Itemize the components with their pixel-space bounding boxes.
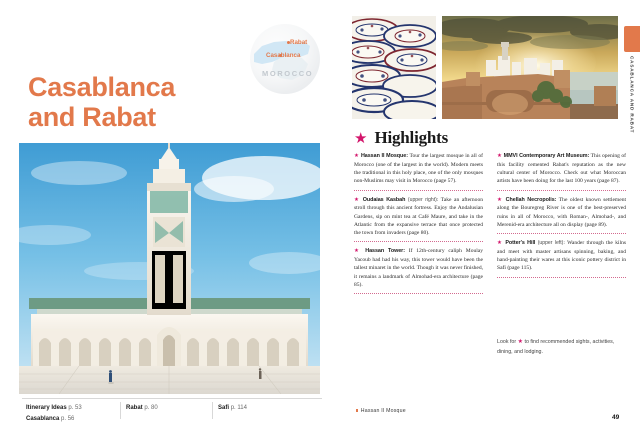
entry-divider <box>497 277 626 278</box>
nav-item-casablanca[interactable]: Casablanca p. 56 <box>26 414 82 425</box>
highlight-entry[interactable]: ★ Hassan II Mosque: Tour the largest mos… <box>354 152 483 186</box>
nav-item-label: Itinerary Ideas <box>26 405 67 411</box>
star-icon: ★ <box>518 339 523 345</box>
edge-label-text: CASABLANCA AND RABAT <box>630 56 635 133</box>
highlights-title: Highlights <box>374 128 448 148</box>
star-icon: ★ <box>354 248 361 254</box>
hero-caption-text: Hassan II Mosque <box>361 408 406 414</box>
nav-item-itinerary-ideas[interactable]: Itinerary Ideas p. 53 <box>26 403 82 414</box>
highlight-entry[interactable]: ★ Hassan Tower: If 12th-century caliph M… <box>354 247 483 289</box>
highlight-note: (upper left) <box>535 240 563 246</box>
nav-item-rabat[interactable]: Rabat p. 80 <box>126 403 158 414</box>
page-number: 49 <box>612 414 619 421</box>
entry-divider <box>497 233 626 234</box>
nav-item-safi[interactable]: Safi p. 114 <box>218 403 247 414</box>
nav-column-1: Itinerary Ideas p. 53 Casablanca p. 56 <box>26 403 82 425</box>
highlight-entry[interactable]: ★ Potter's Hill (upper left): Wander thr… <box>497 239 626 273</box>
guidebook-spread: MOROCCO Rabat Casablanca Casablanca and … <box>0 0 640 436</box>
entry-divider <box>354 293 483 294</box>
highlight-name: Hassan Tower: <box>365 248 405 254</box>
nav-divider-1 <box>120 402 121 419</box>
chapter-contents-nav: Itinerary Ideas p. 53 Casablanca p. 56 R… <box>22 398 322 424</box>
nav-item-page: p. 56 <box>61 416 74 422</box>
star-icon: ★ <box>497 240 503 246</box>
highlight-note: (upper right) <box>405 197 436 203</box>
nav-column-2: Rabat p. 80 <box>126 403 158 414</box>
highlights-legend-note: Look for ★ to find recommended sights, a… <box>497 338 625 356</box>
star-icon: ★ <box>497 153 502 159</box>
highlight-entry[interactable]: ★ MMVI Contemporary Art Museum: This ope… <box>497 152 626 186</box>
nav-item-page: p. 53 <box>68 405 81 411</box>
nav-item-label: Rabat <box>126 405 143 411</box>
nav-item-label: Safi <box>218 405 229 411</box>
left-page: MOROCCO Rabat Casablanca Casablanca and … <box>0 0 340 436</box>
highlights-columns: ★ Hassan II Mosque: Tour the largest mos… <box>354 152 626 299</box>
highlight-name: Chellah Necropolis: <box>506 197 557 203</box>
page-title-line2: and Rabat <box>28 102 258 132</box>
nav-item-page: p. 114 <box>231 405 247 411</box>
nav-divider-2 <box>212 402 213 419</box>
photo-moroccan-pottery-stack <box>352 16 436 119</box>
highlights-left-column: ★ Hassan II Mosque: Tour the largest mos… <box>354 152 483 299</box>
photo-rabat-kasbah-sunset <box>442 16 618 119</box>
highlight-entry[interactable]: ★ Oudaias Kasbah (upper right): Take an … <box>354 196 483 238</box>
chapter-edge-label: CASABLANCA AND RABAT <box>624 56 640 166</box>
star-icon: ★ <box>497 197 503 203</box>
entry-divider <box>354 190 483 191</box>
highlights-header: ★ Highlights <box>354 128 448 148</box>
right-page: ★ Highlights ★ Hassan II Mosque: Tour th… <box>340 0 640 436</box>
hero-photo-hassan-ii-mosque <box>19 143 320 394</box>
caption-bullet-icon <box>356 409 358 411</box>
highlight-name: Hassan II Mosque: <box>361 153 408 159</box>
highlight-name: Potter's Hill <box>505 240 535 246</box>
highlight-name: MMVI Contemporary Art Museum: <box>504 153 590 159</box>
map-country-label: MOROCCO <box>262 69 313 78</box>
legend-prefix: Look for <box>497 339 516 345</box>
photo-row <box>352 16 618 119</box>
page-title: Casablanca and Rabat <box>28 72 258 132</box>
highlights-right-column: ★ MMVI Contemporary Art Museum: This ope… <box>497 152 626 299</box>
map-city-casablanca: Casablanca <box>266 52 300 59</box>
map-city-rabat: Rabat <box>290 39 307 46</box>
highlight-entry[interactable]: ★ Chellah Necropolis: The oldest known s… <box>497 196 626 230</box>
chapter-edge-tab <box>624 26 640 52</box>
star-icon: ★ <box>354 153 359 159</box>
entry-divider <box>354 241 483 242</box>
hero-photo-caption: Hassan II Mosque <box>356 408 406 414</box>
nav-item-page: p. 80 <box>144 405 157 411</box>
nav-divider-top <box>22 398 322 399</box>
highlight-name: Oudaias Kasbah <box>363 197 406 203</box>
entry-divider <box>497 190 626 191</box>
page-title-line1: Casablanca <box>28 72 258 102</box>
star-icon: ★ <box>354 131 367 146</box>
nav-column-3: Safi p. 114 <box>218 403 247 414</box>
star-icon: ★ <box>354 197 360 203</box>
nav-item-label: Casablanca <box>26 416 59 422</box>
